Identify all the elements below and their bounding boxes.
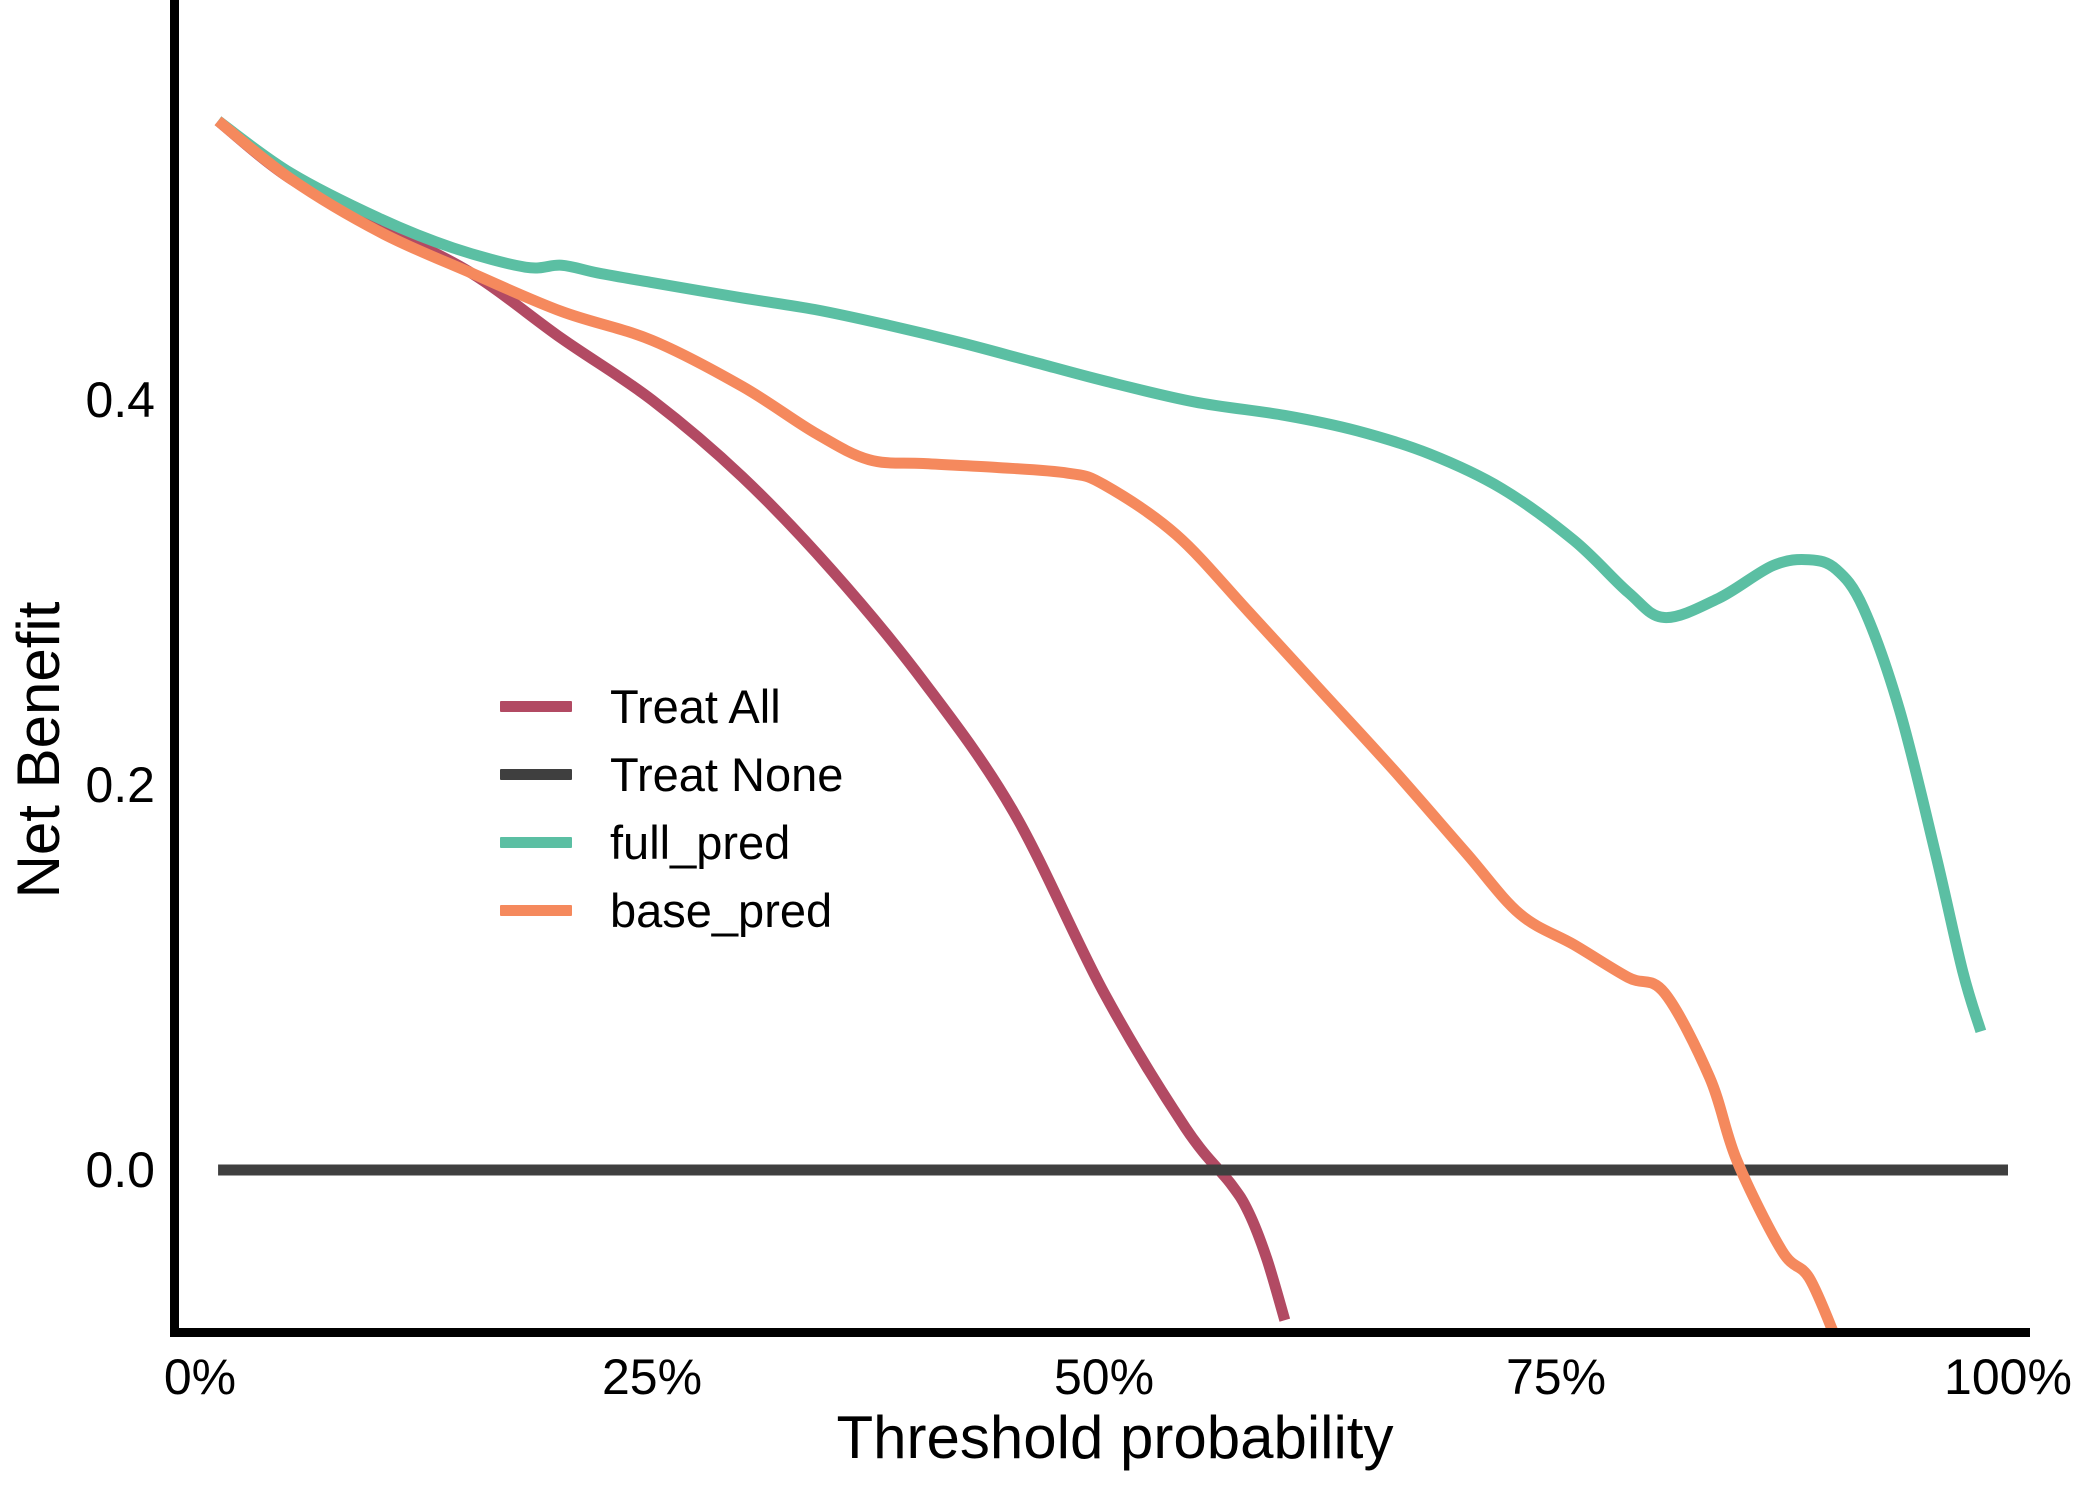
decision-curve-figure: Net Benefit 0.00.20.4 Treat AllTreat Non… [0,0,2100,1500]
legend-key-swatch [500,905,572,916]
x-tick-label: 50% [1054,1352,1154,1402]
legend-item-label: full_pred [610,819,790,866]
x-tick-label: 100% [1944,1352,2072,1402]
y-tick-label: 0.0 [35,1145,155,1195]
x-tick-label: 0% [164,1352,236,1402]
y-axis-line [170,0,179,1337]
x-axis-title: Threshold probability [200,1408,2030,1468]
legend-key-swatch [500,837,572,848]
legend-key-swatch [500,769,572,780]
y-axis-tick-labels: 0.00.20.4 [0,0,155,1500]
legend-key-swatch [500,701,572,712]
y-tick-label: 0.4 [35,375,155,425]
legend-item-treat-none[interactable]: Treat None [500,740,930,808]
legend: Treat AllTreat Nonefull_predbase_pred [500,672,930,944]
series-line-base-pred [218,121,1836,1337]
plot-area [170,0,2030,1337]
legend-item-treat-all[interactable]: Treat All [500,672,930,740]
legend-item-base-pred[interactable]: base_pred [500,876,930,944]
plot-panel [170,0,2030,1337]
x-tick-label: 25% [602,1352,702,1402]
series-group [218,121,2008,1337]
series-line-full-pred [218,121,1981,1032]
x-tick-label: 75% [1506,1352,1606,1402]
x-axis-line [170,1328,2030,1337]
legend-item-label: Treat None [610,751,843,798]
legend-item-label: base_pred [610,887,832,934]
y-tick-label: 0.2 [35,760,155,810]
legend-item-full-pred[interactable]: full_pred [500,808,930,876]
legend-item-label: Treat All [610,683,781,730]
